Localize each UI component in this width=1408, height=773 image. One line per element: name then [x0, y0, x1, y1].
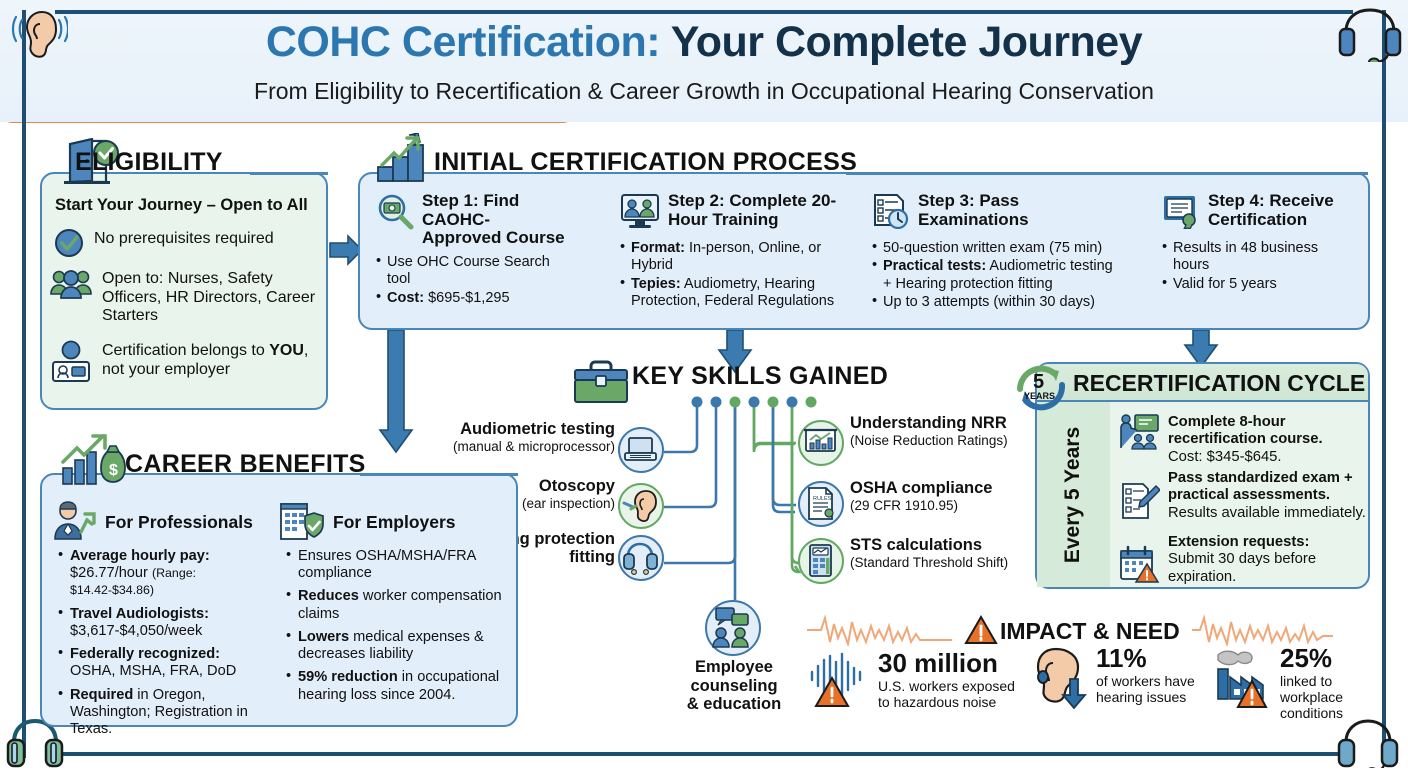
step-2: Step 2: Complete 20-Hour Training Format…	[620, 192, 848, 312]
eligibility-item-2: Certification belongs to YOU, not your e…	[50, 340, 318, 387]
skill-right-0-label: Understanding NRR(Noise Reduction Rating…	[850, 415, 1008, 450]
skill-right-1-label: OSHA compliance(29 CFR 1910.95)	[850, 480, 992, 515]
ear-sound-icon	[6, 6, 68, 69]
toolbox-icon	[573, 358, 629, 409]
step-1: Step 1: Find CAOHC-Approved Course Use O…	[376, 192, 566, 308]
step-4-bullets: Results in 48 business hours Valid for 5…	[1162, 240, 1342, 293]
list-item: Format: In-person, Online, or Hybrid	[620, 240, 848, 275]
five-year-cycle-icon: 5 YEARS	[1008, 355, 1074, 422]
initial-certification-rule	[846, 172, 1368, 175]
page-subtitle: From Eligibility to Recertification & Ca…	[0, 78, 1408, 105]
list-item: Ensures OSHA/MSHA/FRA compliance	[286, 548, 508, 582]
step-3-title: Step 3: Pass Examinations	[918, 192, 1122, 229]
skill-right-2-label: STS calculations(Standard Threshold Shif…	[850, 537, 1008, 572]
list-item: Use OHC Course Search tool	[376, 254, 566, 289]
professional-growth-icon	[52, 500, 96, 545]
career-professionals-list: Average hourly pay:$26.77/hour (Range: $…	[58, 548, 278, 744]
right-rail	[1382, 10, 1386, 758]
recertification-heading: RECERTIFICATION CYCLE	[1073, 370, 1365, 397]
magnifier-money-icon	[376, 194, 414, 235]
list-item: 50-question written exam (75 min)	[872, 240, 1122, 257]
factory-alert-icon	[1212, 645, 1274, 714]
career-employers-title: For Employers	[333, 512, 456, 533]
calculator-icon	[798, 538, 844, 584]
step-2-title: Step 2: Complete 20-Hour Training	[668, 192, 848, 229]
list-item: Practical tests: Audiometric testing + H…	[872, 258, 1122, 293]
eligibility-item-2-label: Certification belongs to YOU, not your e…	[102, 340, 316, 379]
initial-certification-heading: INITIAL CERTIFICATION PROCESS	[434, 148, 857, 177]
list-item: 59% reduction in occupational hearing lo…	[286, 669, 508, 703]
impact-stat-1: 11% of workers havehearing issues	[1030, 645, 1195, 714]
ear-down-arrow-icon	[1030, 645, 1090, 714]
list-item: Cost: $695-$1,295	[376, 290, 566, 307]
audiometer-icon	[618, 427, 664, 473]
recertification-item-1: Pass standardized exam + practical asses…	[1168, 470, 1370, 522]
exam-clock-icon	[872, 193, 910, 234]
svg-text:$: $	[109, 462, 118, 479]
impact-stat-1-text: of workers havehearing issues	[1096, 674, 1195, 706]
svg-text:RULES: RULES	[813, 496, 832, 502]
headset-icon	[1338, 4, 1402, 67]
career-professionals-title: For Professionals	[105, 512, 253, 533]
step-1-title: Step 1: Find CAOHC-Approved Course	[422, 192, 566, 248]
eligibility-item-0-label: No prerequisites required	[94, 228, 274, 249]
header-banner: COHC Certification: Your Complete Journe…	[0, 0, 1408, 122]
bottom-rule	[55, 752, 1353, 756]
list-item: Up to 3 attempts (within 30 days)	[872, 294, 1122, 311]
eligibility-lead: Start Your Journey – Open to All	[55, 196, 308, 215]
eligibility-rule	[250, 172, 328, 175]
soundwave-alert-icon	[808, 650, 870, 715]
warning-triangle-icon	[964, 615, 998, 650]
eligibility-item-1: Open to: Nurses, Safety Officers, HR Dir…	[50, 268, 318, 326]
headset-icon	[1336, 716, 1400, 773]
key-skills-heading: KEY SKILLS GAINED	[632, 362, 888, 391]
list-item: Valid for 5 years	[1162, 276, 1342, 293]
impact-stat-2-text: linked toworkplaceconditions	[1280, 674, 1343, 721]
eligibility-item-0: No prerequisites required	[54, 228, 322, 263]
otoscope-ear-icon	[618, 483, 664, 529]
certificate-icon	[1162, 193, 1200, 234]
impact-stat-2-number: 25%	[1280, 645, 1343, 671]
step-2-bullets: Format: In-person, Online, or Hybrid Tep…	[620, 240, 848, 311]
step-3-bullets: 50-question written exam (75 min) Practi…	[872, 240, 1122, 312]
waveform-right-decoration	[1190, 612, 1362, 646]
step-1-bullets: Use OHC Course Search tool Cost: $695-$1…	[376, 254, 566, 307]
list-item: Travel Audiologists:$3,617-$4,050/week	[58, 606, 278, 640]
recertification-item-0: Complete 8-hour recertification course. …	[1168, 414, 1364, 466]
page-title-part1: COHC Certification:	[266, 18, 660, 66]
step-4-title: Step 4: Receive Certification	[1208, 192, 1342, 229]
svg-text:YEARS: YEARS	[1024, 391, 1055, 401]
skill-bottom-label: Employeecounseling& education	[655, 658, 813, 714]
impact-stat-0: 30 million U.S. workers exposedto hazard…	[808, 650, 1015, 715]
career-employers-list: Ensures OSHA/MSHA/FRA compliance Reduces…	[286, 548, 508, 710]
training-monitor-icon	[620, 193, 660, 234]
step-4: Step 4: Receive Certification Results in…	[1162, 192, 1342, 294]
list-item: Required in Oregon, Washington; Registra…	[58, 687, 278, 739]
recertification-item-2: Extension requests: Submit 30 days befor…	[1168, 534, 1364, 586]
list-item: Tepies: Audiometry, Hearing Protection, …	[620, 276, 848, 311]
career-benefits-rule	[360, 473, 518, 476]
eligibility-item-1-label: Open to: Nurses, Safety Officers, HR Dir…	[102, 268, 316, 326]
id-badge-icon	[50, 340, 92, 387]
classroom-icon	[1118, 412, 1160, 455]
impact-stat-2: 25% linked toworkplaceconditions	[1212, 645, 1343, 721]
eligibility-heading: ELIGIBILITY	[75, 148, 223, 177]
growth-money-icon: $	[57, 434, 133, 493]
counseling-icon	[705, 600, 761, 656]
recertification-side-label: Every 5 Years	[1037, 402, 1110, 587]
list-item: Results in 48 business hours	[1162, 240, 1342, 275]
building-shield-icon	[278, 500, 326, 545]
infographic-canvas: COHC Certification: Your Complete Journe…	[0, 0, 1408, 768]
left-rail	[22, 10, 26, 758]
list-item: Average hourly pay:$26.77/hour (Range: $…	[58, 548, 278, 600]
page-title-part2: Your Complete Journey	[660, 18, 1142, 66]
impact-stat-0-text: U.S. workers exposedto hazardous noise	[878, 679, 1015, 711]
exam-pencil-icon	[1118, 481, 1160, 526]
impact-stat-1-number: 11%	[1096, 645, 1195, 671]
skill-left-0-label: Audiometric testing(manual & microproces…	[440, 421, 615, 456]
check-circle-icon	[54, 228, 84, 263]
earmuffs-icon	[618, 535, 664, 581]
list-item: Reduces worker compensation claims	[286, 588, 508, 622]
people-group-icon	[50, 268, 92, 305]
career-benefits-heading: CAREER BENEFITS	[125, 450, 366, 479]
svg-text:5: 5	[1033, 371, 1044, 393]
list-item: Federally recognized:OSHA, MSHA, FRA, Do…	[58, 646, 278, 680]
calendar-alert-icon	[1118, 545, 1160, 588]
impact-stat-0-number: 30 million	[878, 650, 1015, 676]
chart-board-icon	[798, 420, 844, 466]
list-item: Lowers medical expenses & decreases liab…	[286, 629, 508, 663]
page-title: COHC Certification: Your Complete Journe…	[0, 20, 1408, 65]
document-icon: RULES	[798, 481, 844, 527]
impact-heading: IMPACT & NEED	[1000, 618, 1180, 645]
header-top-rule	[55, 10, 1353, 14]
step-3: Step 3: Pass Examinations 50-question wr…	[872, 192, 1122, 313]
stairs-growth-icon	[376, 133, 434, 188]
